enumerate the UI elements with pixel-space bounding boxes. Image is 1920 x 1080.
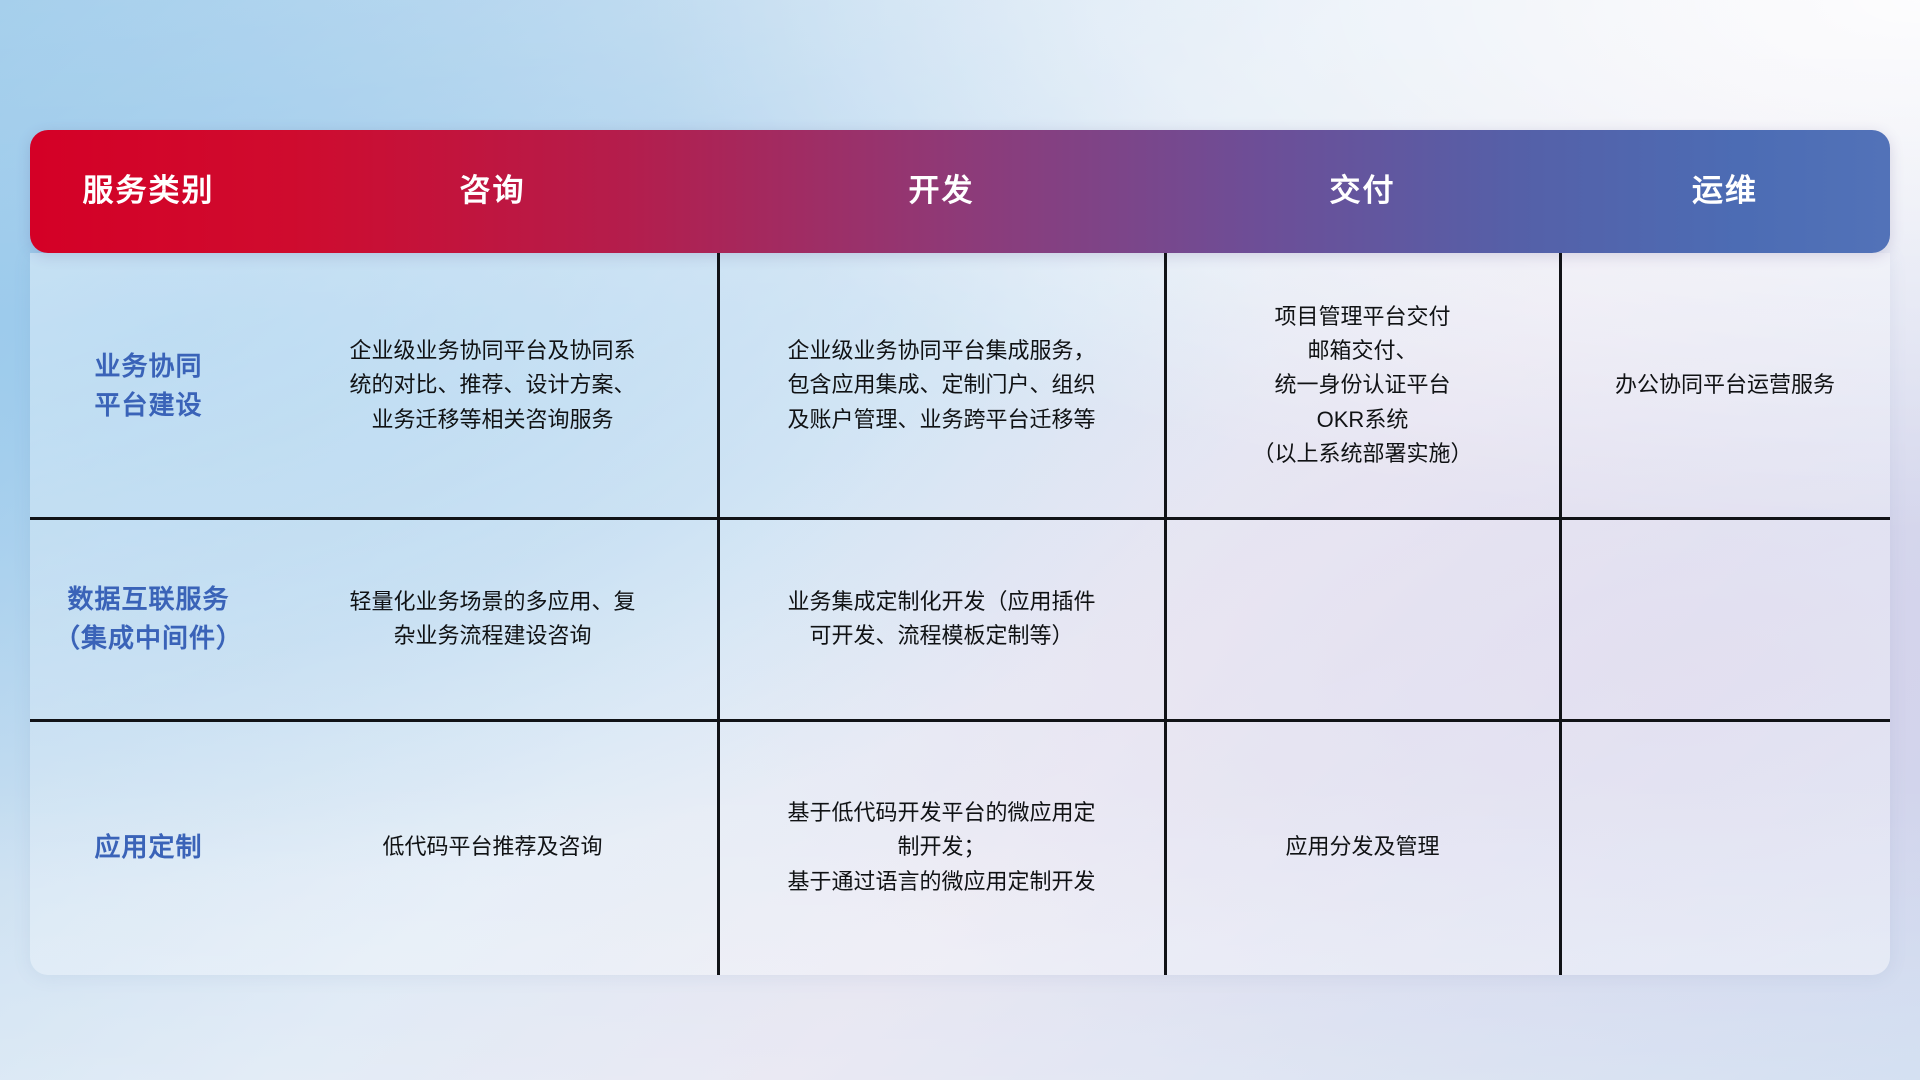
table-header-row: 服务类别 咨询 开发 交付 运维 — [30, 130, 1890, 253]
cell-development: 业务集成定制化开发（应用插件 可开发、流程模板定制等） — [718, 518, 1165, 720]
cell-operations — [1560, 518, 1890, 720]
column-divider — [717, 253, 720, 975]
service-matrix-table: 服务类别 咨询 开发 交付 运维 业务协同 平台建设 企业级业务协同平台及协同系… — [30, 130, 1890, 975]
row-category-label: 应用定制 — [30, 720, 267, 975]
header-cell-service-category: 服务类别 — [30, 174, 267, 208]
header-cell-development: 开发 — [718, 174, 1165, 208]
row-divider — [30, 719, 1890, 722]
column-divider — [1559, 253, 1562, 975]
table-row: 业务协同 平台建设 企业级业务协同平台及协同系 统的对比、推荐、设计方案、 业务… — [30, 253, 1890, 518]
cell-consulting: 低代码平台推荐及咨询 — [267, 720, 718, 975]
header-cell-delivery: 交付 — [1165, 174, 1560, 208]
cell-delivery: 项目管理平台交付 邮箱交付、 统一身份认证平台 OKR系统 （以上系统部署实施） — [1165, 253, 1560, 518]
cell-consulting: 轻量化业务场景的多应用、复 杂业务流程建设咨询 — [267, 518, 718, 720]
table-grid-body: 业务协同 平台建设 企业级业务协同平台及协同系 统的对比、推荐、设计方案、 业务… — [30, 253, 1890, 975]
cell-consulting: 企业级业务协同平台及协同系 统的对比、推荐、设计方案、 业务迁移等相关咨询服务 — [267, 253, 718, 518]
cell-delivery — [1165, 518, 1560, 720]
cell-delivery: 应用分发及管理 — [1165, 720, 1560, 975]
row-category-label: 业务协同 平台建设 — [30, 253, 267, 518]
cell-development: 企业级业务协同平台集成服务， 包含应用集成、定制门户、组织 及账户管理、业务跨平… — [718, 253, 1165, 518]
header-cell-consulting: 咨询 — [267, 174, 718, 208]
cell-operations: 办公协同平台运营服务 — [1560, 253, 1890, 518]
table-row: 应用定制 低代码平台推荐及咨询 基于低代码开发平台的微应用定 制开发； 基于通过… — [30, 720, 1890, 975]
table-row: 数据互联服务 （集成中间件） 轻量化业务场景的多应用、复 杂业务流程建设咨询 业… — [30, 518, 1890, 720]
cell-development: 基于低代码开发平台的微应用定 制开发； 基于通过语言的微应用定制开发 — [718, 720, 1165, 975]
row-divider — [30, 517, 1890, 520]
row-category-label: 数据互联服务 （集成中间件） — [30, 518, 267, 720]
cell-operations — [1560, 720, 1890, 975]
header-cell-operations: 运维 — [1560, 174, 1890, 208]
column-divider — [1164, 253, 1167, 975]
